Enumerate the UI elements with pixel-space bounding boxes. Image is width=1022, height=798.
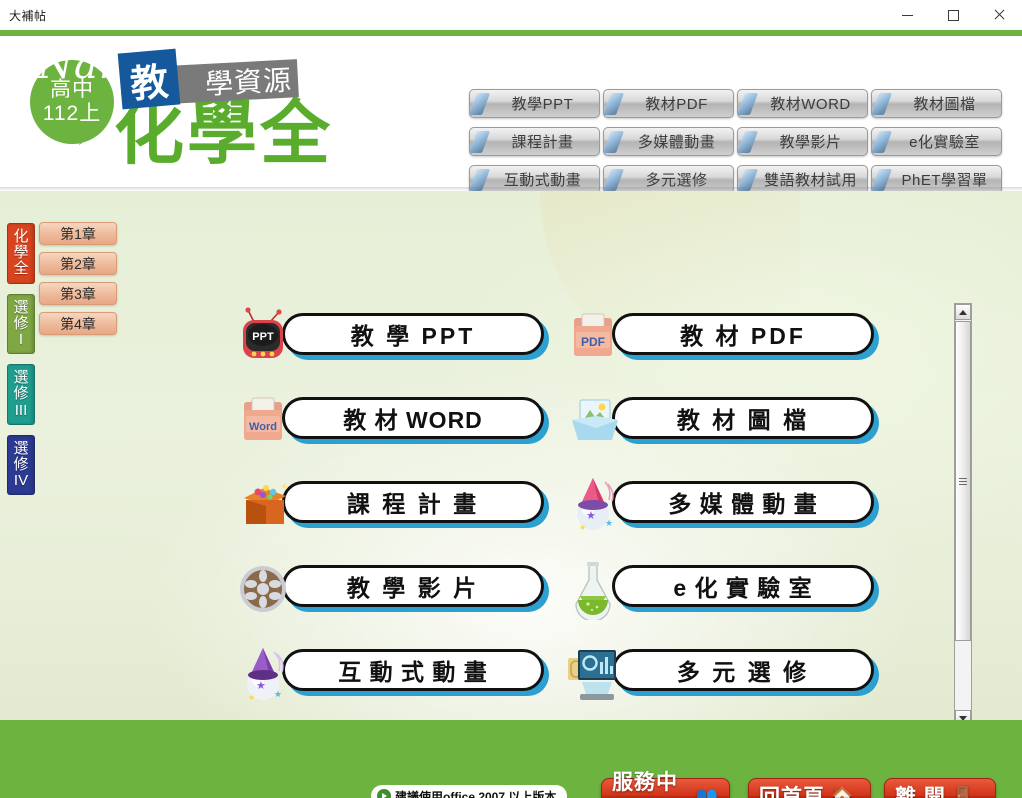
- header-menu-item-ppt[interactable]: 教學PPT: [469, 89, 600, 118]
- launcher-row: ✦ 課 程 計 畫: [232, 474, 552, 536]
- grip-icon: [959, 476, 967, 487]
- svg-text:★: ★: [248, 693, 255, 702]
- launcher-row: 教 學 影 片: [232, 558, 552, 620]
- app-header: 高中 112上 學資源 教 化學全 教學PPT 教材PDF 教材WORD 教材圖…: [0, 36, 1022, 190]
- header-menu-item-video[interactable]: 教學影片: [737, 127, 868, 156]
- sidebar-item-elective-4[interactable]: 選修IV: [7, 435, 35, 496]
- window-titlebar: 大補帖: [0, 0, 1022, 30]
- people-icon: 👥: [696, 786, 719, 798]
- sidebar-item-elective-3[interactable]: 選修III: [7, 364, 35, 425]
- home-label: 回首頁: [759, 781, 825, 798]
- launcher-button-interactive[interactable]: 互 動 式 動 畫: [282, 649, 544, 691]
- sidebar-item-label: 全: [13, 261, 28, 277]
- exit-door-icon: 🚪: [952, 786, 975, 798]
- header-menu-item-multimedia[interactable]: 多媒體動畫: [603, 127, 734, 156]
- launcher-button-video[interactable]: 教 學 影 片: [282, 565, 544, 607]
- maximize-button[interactable]: [930, 0, 976, 30]
- svg-text:PPT: PPT: [252, 331, 274, 343]
- chapter-button-1[interactable]: 第1章: [39, 222, 117, 245]
- sidebar-item-label: III: [15, 403, 28, 419]
- sidebar-item-label: 選: [13, 370, 28, 386]
- jiao-badge: 教: [118, 49, 181, 110]
- svg-text:Word: Word: [249, 421, 277, 433]
- sidebar-item-elective-1[interactable]: 選修I: [7, 294, 35, 355]
- svg-text:★: ★: [256, 680, 266, 692]
- launcher-button-elab[interactable]: e 化 實 驗 室: [612, 565, 874, 607]
- sidebar-item-label: 學: [13, 245, 28, 261]
- sidebar-item-label: 修: [13, 316, 28, 332]
- launcher-row: e 化 實 驗 室: [562, 558, 882, 620]
- chapter-button-3[interactable]: 第3章: [39, 282, 117, 305]
- launcher-row: Word 教 材 WORD: [232, 390, 552, 452]
- sidebar-item-label: 修: [13, 457, 28, 473]
- service-center-button[interactable]: 服務中心 👥: [601, 778, 730, 798]
- window-title: 大補帖: [0, 7, 47, 24]
- chapter-button-2[interactable]: 第2章: [39, 252, 117, 275]
- chapter-button-4[interactable]: 第4章: [39, 312, 117, 335]
- launcher-button-plan[interactable]: 課 程 計 畫: [282, 481, 544, 523]
- header-menu-item-plan[interactable]: 課程計畫: [469, 127, 600, 156]
- header-menu-item-elab[interactable]: e化實驗室: [871, 127, 1002, 156]
- header-menu-item-images[interactable]: 教材圖檔: [871, 89, 1002, 118]
- app-window: 高中 112上 學資源 教 化學全 教學PPT 教材PDF 教材WORD 教材圖…: [0, 30, 1022, 798]
- launcher-row: 教 材 圖 檔: [562, 390, 882, 452]
- svg-text:★: ★: [579, 523, 586, 532]
- volume-tabs: 化學全 選修I 選修III 選修IV: [7, 223, 35, 505]
- play-icon: [377, 789, 391, 798]
- content-scrollbar[interactable]: [954, 303, 972, 727]
- launcher-button-ppt[interactable]: 教 學 PPT: [282, 313, 544, 355]
- close-button[interactable]: [976, 0, 1022, 30]
- sidebar-item-label: 選: [13, 441, 28, 457]
- launcher-button-elective[interactable]: 多 元 選 修: [612, 649, 874, 691]
- scroll-up-button[interactable]: [955, 304, 971, 320]
- launcher-row: PDF 教 材 PDF: [562, 306, 882, 368]
- svg-text:PDF: PDF: [581, 335, 605, 349]
- launcher-button-word[interactable]: 教 材 WORD: [282, 397, 544, 439]
- sidebar-item-chemistry-full[interactable]: 化學全: [7, 223, 35, 284]
- sidebar-item-label: I: [19, 332, 23, 348]
- home-icon: 🏠: [831, 786, 854, 798]
- svg-text:★: ★: [274, 689, 282, 699]
- sidebar-item-label: 修: [13, 386, 28, 402]
- scrollbar-thumb[interactable]: [955, 321, 971, 641]
- header-menu: 教學PPT 教材PDF 教材WORD 教材圖檔 課程計畫 多媒體動畫 教學影片 …: [469, 89, 1004, 194]
- launcher-row: ★ ★ ★ 多 媒 體 動 畫: [562, 474, 882, 536]
- launcher-row: 多 元 選 修: [562, 642, 882, 704]
- home-button[interactable]: 回首頁 🏠: [748, 778, 871, 798]
- resource-launcher-grid: PPT 教 學 PPT PDF 教 材 PDF: [232, 306, 892, 710]
- launcher-button-pdf[interactable]: 教 材 PDF: [612, 313, 874, 355]
- sidebar-item-label: 選: [13, 300, 28, 316]
- svg-text:★: ★: [605, 518, 613, 528]
- chapter-list: 第1章 第2章 第3章 第4章: [39, 222, 117, 342]
- grade-line-1: 高中: [50, 78, 94, 102]
- chevron-up-icon: [959, 310, 967, 315]
- service-center-label: 服務中心: [612, 766, 690, 798]
- launcher-row: ★ ★ ★ 互 動 式 動 畫: [232, 642, 552, 704]
- sidebar-item-label: IV: [14, 473, 28, 489]
- content-area: 化學全 選修I 選修III 選修IV 第1章 第2章 第3章 第4章: [0, 191, 1022, 720]
- minimize-button[interactable]: [884, 0, 930, 30]
- close-icon: [993, 9, 1005, 21]
- header-menu-item-pdf[interactable]: 教材PDF: [603, 89, 734, 118]
- page-title: 化學全: [114, 98, 333, 168]
- office-version-text: 建議使用office 2007 以上版本: [395, 788, 556, 798]
- exit-button[interactable]: 離 開 🚪: [884, 778, 996, 798]
- minimize-icon: [902, 15, 913, 16]
- exit-label: 離 開: [895, 781, 946, 798]
- maximize-icon: [948, 10, 959, 21]
- launcher-row: PPT 教 學 PPT: [232, 306, 552, 368]
- svg-text:★: ★: [586, 510, 596, 522]
- launcher-button-multimedia[interactable]: 多 媒 體 動 畫: [612, 481, 874, 523]
- grade-line-2: 112上: [43, 102, 101, 126]
- office-version-note: 建議使用office 2007 以上版本: [371, 785, 567, 798]
- launcher-button-images[interactable]: 教 材 圖 檔: [612, 397, 874, 439]
- header-menu-item-word[interactable]: 教材WORD: [737, 89, 868, 118]
- sidebar-item-label: 化: [13, 229, 28, 245]
